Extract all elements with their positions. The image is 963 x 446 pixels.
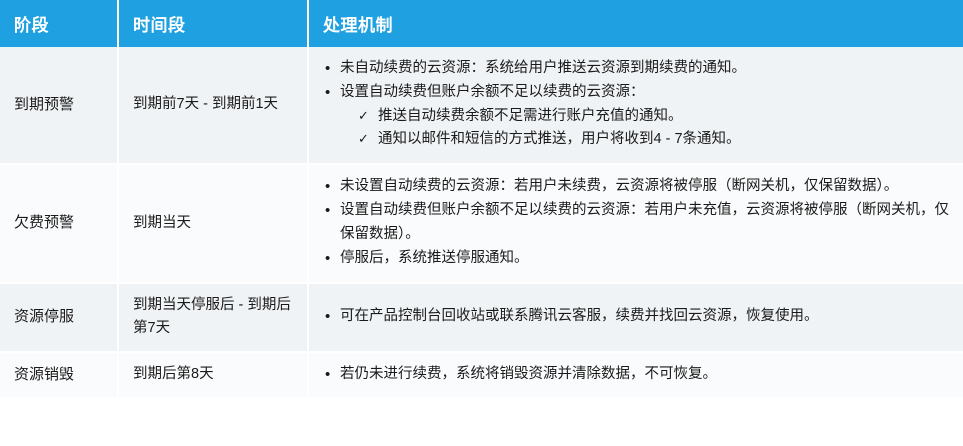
cell-stage: 资源销毁 [0, 352, 118, 398]
table-row: 欠费预警到期当天未设置自动续费的云资源：若用户未续费，云资源将被停服（断网关机，… [0, 164, 963, 283]
cell-mechanism: 未设置自动续费的云资源：若用户未续费，云资源将被停服（断网关机，仅保留数据）。设… [308, 164, 963, 283]
cell-mechanism: 可在产品控制台回收站或联系腾讯云客服，续费并找回云资源，恢复使用。 [308, 283, 963, 352]
bullet-item: 可在产品控制台回收站或联系腾讯云客服，续费并找回云资源，恢复使用。 [323, 305, 949, 328]
cell-period: 到期后第8天 [118, 352, 308, 398]
bullet-list: 未自动续费的云资源：系统给用户推送云资源到期续费的通知。设置自动续费但账户余额不… [323, 57, 949, 152]
bullet-text: 设置自动续费但账户余额不足以续费的云资源：若用户未充值，云资源将被停服（断网关机… [340, 202, 949, 241]
table-header-row: 阶段 时间段 处理机制 [0, 0, 963, 47]
bullet-list: 可在产品控制台回收站或联系腾讯云客服，续费并找回云资源，恢复使用。 [323, 305, 949, 328]
bullet-text: 停服后，系统推送停服通知。 [340, 250, 529, 266]
bullet-list: 未设置自动续费的云资源：若用户未续费，云资源将被停服（断网关机，仅保留数据）。设… [323, 175, 949, 271]
table-row: 资源销毁到期后第8天若仍未进行续费，系统将销毁资源并清除数据，不可恢复。 [0, 352, 963, 398]
lifecycle-table-container: 阶段 时间段 处理机制 到期预警到期前7天 - 到期前1天未自动续费的云资源：系… [0, 0, 963, 446]
bullet-item: 设置自动续费但账户余额不足以续费的云资源：若用户未充值，云资源将被停服（断网关机… [323, 199, 949, 246]
bullet-item: 停服后，系统推送停服通知。 [323, 247, 949, 270]
cell-period: 到期当天 [118, 164, 308, 283]
column-header-stage: 阶段 [0, 0, 118, 47]
cell-period: 到期当天停服后 - 到期后第7天 [118, 283, 308, 352]
bullet-text: 未自动续费的云资源：系统给用户推送云资源到期续费的通知。 [340, 60, 746, 76]
column-header-mechanism: 处理机制 [308, 0, 963, 47]
bullet-item: 设置自动续费但账户余额不足以续费的云资源：推送自动续费余额不足需进行账户充值的通… [323, 81, 949, 151]
bullet-text: 设置自动续费但账户余额不足以续费的云资源： [340, 84, 645, 100]
bullet-item: 未自动续费的云资源：系统给用户推送云资源到期续费的通知。 [323, 57, 949, 80]
table-body: 到期预警到期前7天 - 到期前1天未自动续费的云资源：系统给用户推送云资源到期续… [0, 47, 963, 398]
bullet-text: 若仍未进行续费，系统将销毁资源并清除数据，不可恢复。 [340, 366, 717, 382]
column-header-period: 时间段 [118, 0, 308, 47]
bullet-text: 未设置自动续费的云资源：若用户未续费，云资源将被停服（断网关机，仅保留数据）。 [340, 178, 898, 194]
sub-bullet-list: 推送自动续费余额不足需进行账户充值的通知。通知以邮件和短信的方式推送，用户将收到… [356, 105, 949, 152]
cell-mechanism: 未自动续费的云资源：系统给用户推送云资源到期续费的通知。设置自动续费但账户余额不… [308, 47, 963, 164]
sub-bullet-container: 推送自动续费余额不足需进行账户充值的通知。通知以邮件和短信的方式推送，用户将收到… [340, 105, 949, 152]
table-header: 阶段 时间段 处理机制 [0, 0, 963, 47]
table-row: 到期预警到期前7天 - 到期前1天未自动续费的云资源：系统给用户推送云资源到期续… [0, 47, 963, 164]
cell-stage: 资源停服 [0, 283, 118, 352]
cell-stage: 到期预警 [0, 47, 118, 164]
bullet-text: 可在产品控制台回收站或联系腾讯云客服，续费并找回云资源，恢复使用。 [340, 308, 819, 324]
cell-stage: 欠费预警 [0, 164, 118, 283]
sub-bullet-item: 推送自动续费余额不足需进行账户充值的通知。 [356, 105, 949, 128]
resource-lifecycle-table: 阶段 时间段 处理机制 到期预警到期前7天 - 到期前1天未自动续费的云资源：系… [0, 0, 963, 399]
table-row: 资源停服到期当天停服后 - 到期后第7天可在产品控制台回收站或联系腾讯云客服，续… [0, 283, 963, 352]
bullet-list: 若仍未进行续费，系统将销毁资源并清除数据，不可恢复。 [323, 363, 949, 386]
bullet-item: 未设置自动续费的云资源：若用户未续费，云资源将被停服（断网关机，仅保留数据）。 [323, 175, 949, 198]
cell-mechanism: 若仍未进行续费，系统将销毁资源并清除数据，不可恢复。 [308, 352, 963, 398]
bullet-item: 若仍未进行续费，系统将销毁资源并清除数据，不可恢复。 [323, 363, 949, 386]
cell-period: 到期前7天 - 到期前1天 [118, 47, 308, 164]
sub-bullet-item: 通知以邮件和短信的方式推送，用户将收到4 - 7条通知。 [356, 128, 949, 151]
